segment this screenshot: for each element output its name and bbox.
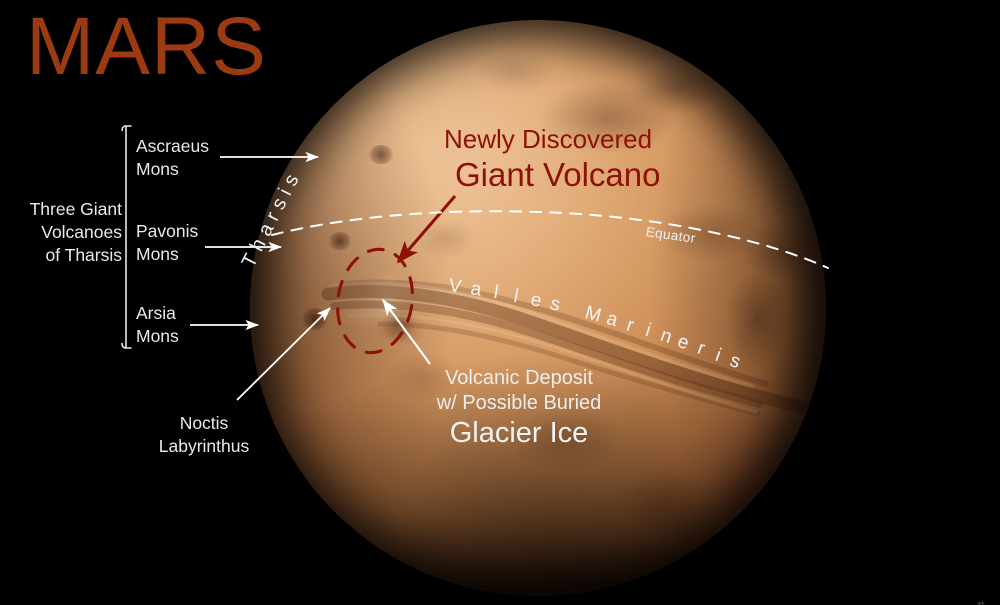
valles-marineris-glyph: l	[512, 286, 520, 308]
valles-marineris-glyph: e	[529, 289, 544, 313]
mars-annotated-figure: MARS Three Giant Volcanoes of Tharsis As…	[0, 0, 1000, 605]
valles-marineris-glyph: e	[675, 331, 692, 355]
valles-marineris-glyph: M	[583, 302, 604, 327]
valles-marineris-glyph: s	[727, 350, 744, 374]
valles-marineris-glyph: i	[643, 320, 654, 342]
valles-marineris-glyph: i	[712, 345, 724, 367]
valles-marineris-glyph: a	[469, 278, 483, 301]
valles-marineris-glyph: V	[447, 275, 462, 298]
valles-marineris-glyph: a	[604, 308, 620, 332]
valles-marineris-glyph	[569, 298, 580, 321]
valles-marineris-glyph: l	[492, 282, 500, 304]
image-credit: Background Image: NASA / USGS. Geologic …	[976, 601, 988, 605]
valles-marineris-glyph: r	[694, 338, 707, 361]
valles-marineris-label: Valles Marineris	[0, 0, 1000, 605]
valles-marineris-glyph: s	[548, 293, 562, 317]
valles-marineris-glyph: n	[657, 325, 674, 349]
valles-marineris-glyph: r	[624, 314, 637, 337]
